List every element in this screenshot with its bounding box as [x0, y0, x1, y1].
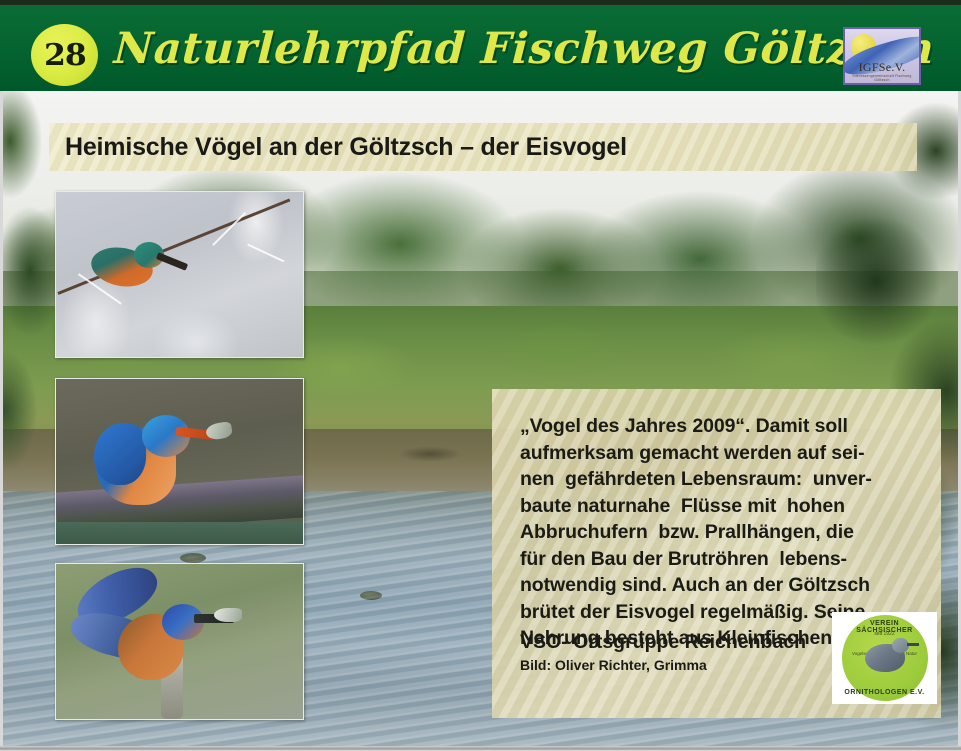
body-line: aufmerksam gemacht werden auf sei- — [520, 440, 925, 467]
rock-shape — [180, 553, 206, 563]
photo-kingfisher-with-fish — [55, 378, 304, 545]
bottom-frame-border — [0, 746, 961, 751]
body-line: nen gefährdeten Lebensraum: unver- — [520, 466, 925, 493]
body-line: für den Bau der Brutröhren lebens- — [520, 546, 925, 573]
igf-logo-subline: Interessengemeinschaft Fischweg Göltzsch — [845, 74, 919, 82]
vso-logo: VEREIN SÄCHSISCHER seit 1922 Vogelschutz… — [832, 612, 937, 704]
vso-ring-bottom-label: ORNITHOLOGEN E.V. — [842, 689, 928, 696]
left-foliage-region — [0, 91, 55, 746]
bird-icon — [865, 644, 905, 672]
body-line: notwendig sind. Auch an der Göltzsch — [520, 572, 925, 599]
body-line: baute naturnahe Flüsse mit hohen — [520, 493, 925, 520]
photo-kingfisher-landing — [55, 563, 304, 720]
body-line: Abbruchufern bzw. Prallhängen, die — [520, 519, 925, 546]
igf-logo: IGFSe.V. Interessengemeinschaft Fischweg… — [843, 27, 921, 85]
igf-logo-label: IGFSe.V. — [845, 60, 919, 75]
kingfisher-wing — [94, 423, 146, 485]
page-title: Naturlehrpfad Fischweg Göltzsch — [113, 21, 937, 77]
subtitle-band: Heimische Vögel an der Göltzsch – der Ei… — [49, 123, 917, 171]
left-frame-border — [0, 91, 3, 751]
poster-root: 28 Naturlehrpfad Fischweg Göltzsch IGFSe… — [0, 0, 961, 751]
bird-bill-shape — [907, 643, 919, 646]
vso-logo-circle: VEREIN SÄCHSISCHER seit 1922 Vogelschutz… — [842, 615, 928, 701]
station-number-label: 28 — [44, 38, 86, 73]
photo1-background — [56, 192, 303, 357]
organisation-label: VSO- Ortsgruppe Reichenbach — [520, 631, 806, 654]
photo2-water-strip — [56, 522, 304, 544]
subtitle-text: Heimische Vögel an der Göltzsch – der Ei… — [49, 133, 627, 162]
photo-kingfisher-on-frosty-branch — [55, 191, 304, 358]
rock-shape — [360, 591, 382, 600]
info-text-panel: „Vogel des Jahres 2009“. Damit soll aufm… — [492, 389, 941, 718]
vso-year-label: seit 1922 — [842, 631, 928, 637]
station-number-badge: 28 — [31, 24, 98, 86]
photo-credit-label: Bild: Oliver Richter, Grimma — [520, 657, 806, 673]
credit-block: VSO- Ortsgruppe Reichenbach Bild: Oliver… — [520, 631, 806, 673]
header-banner: 28 Naturlehrpfad Fischweg Göltzsch IGFSe… — [0, 5, 961, 91]
fish-in-bill — [214, 608, 242, 622]
body-line: „Vogel des Jahres 2009“. Damit soll — [520, 413, 925, 440]
